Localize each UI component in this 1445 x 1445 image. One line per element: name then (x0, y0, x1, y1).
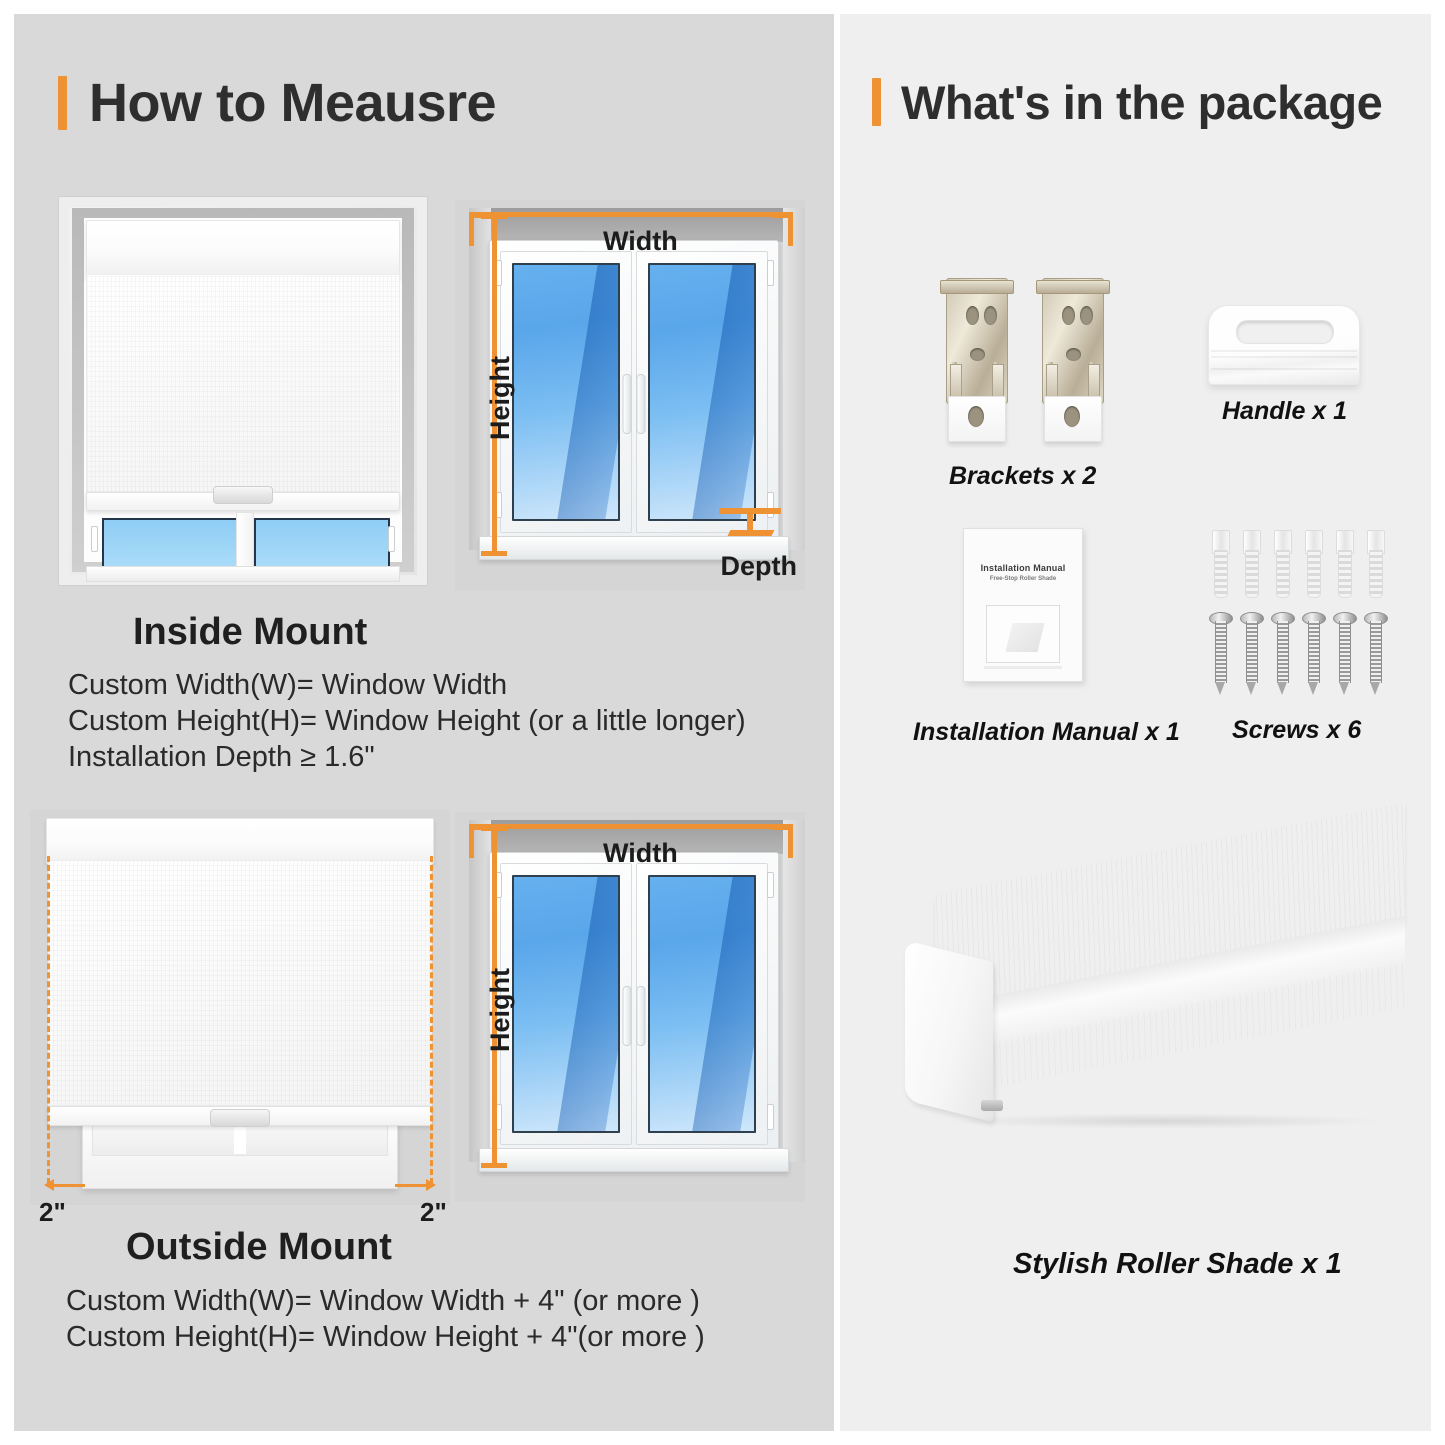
accent-bar-icon (58, 76, 67, 130)
handle-item (1208, 305, 1360, 385)
screw-5 (1333, 612, 1355, 696)
screw-4 (1302, 612, 1324, 696)
window-sash-left (500, 251, 632, 533)
outside-mount-line-1: Custom Width(W)= Window Width + 4" (or m… (66, 1285, 700, 1318)
installation-manual-item: Installation Manual Free-Stop Roller Sha… (963, 528, 1083, 682)
depth-marker-icon (719, 508, 783, 538)
overhang-arrowhead-left (44, 1179, 54, 1191)
manual-cover-title: Installation Manual (964, 563, 1082, 573)
window-hinge-right-icon (388, 526, 395, 552)
width-label: Width (603, 226, 678, 257)
width-label: Width (603, 838, 678, 869)
handle-label: Handle x 1 (1222, 397, 1347, 426)
inside-mount-line-3: Installation Depth ≥ 1.6" (68, 741, 375, 774)
visible-glass-right (254, 518, 390, 570)
height-marker-top-cap (481, 214, 507, 219)
height-marker-bottom-cap (481, 1163, 507, 1168)
window-hinge-top-right-icon (767, 872, 774, 898)
wall-anchor-5 (1333, 530, 1355, 596)
height-marker-bottom-cap (481, 551, 507, 556)
outside-mount-line-2: Custom Height(H)= Window Height + 4"(or … (66, 1321, 705, 1354)
heading-text: How to Meausre (89, 76, 496, 130)
handle-grip-slot (1236, 320, 1334, 344)
shade-bottom-rail (86, 492, 400, 511)
overhang-arrowhead-right (426, 1179, 436, 1191)
window-sill (479, 1148, 789, 1172)
inside-mount-line-2: Custom Height(H)= Window Height (or a li… (68, 705, 746, 738)
outside-mount-title: Outside Mount (126, 1226, 392, 1269)
window-reveal-right (783, 208, 805, 550)
width-marker-line (475, 212, 793, 217)
roller-shade-label: Stylish Roller Shade x 1 (1013, 1248, 1342, 1281)
width-marker-right-tick (788, 824, 793, 858)
width-marker-left-tick (469, 824, 474, 858)
shade-end-cap (905, 940, 993, 1122)
manual-cover-subtitle: Free-Stop Roller Shade (964, 576, 1082, 582)
outside-mount-window-diagram: Width Height (455, 812, 805, 1202)
shade-fabric (86, 274, 400, 498)
wall-anchor-4 (1302, 530, 1324, 596)
screw-1 (1209, 612, 1231, 696)
shade-valance (46, 818, 434, 864)
shade-bottom-rail (48, 1106, 432, 1126)
window-sill (86, 566, 400, 582)
window-hinge-left-icon (91, 526, 98, 552)
shade-valance (86, 220, 400, 278)
window-glass-left (512, 875, 620, 1133)
heading-text: What's in the package (901, 79, 1382, 126)
outside-mount-shade-illustration (30, 810, 450, 1205)
manual-cover-image (986, 605, 1060, 663)
screws-label: Screws x 6 (1232, 716, 1361, 745)
wall-anchor-6 (1364, 530, 1386, 596)
accent-bar-icon (872, 78, 881, 126)
window-handles-icon (623, 374, 646, 434)
window-reveal-right (783, 820, 805, 1162)
shade-end-pin (981, 1100, 1003, 1111)
window-sash-right (636, 251, 768, 533)
window-sash-left (500, 863, 632, 1145)
screw-3 (1271, 612, 1293, 696)
window-glass-right (648, 875, 756, 1133)
overhang-label-left: 2" (39, 1197, 66, 1228)
shade-pull-handle (213, 486, 273, 504)
how-to-measure-heading: How to Meausre (58, 76, 496, 130)
bracket-item-1 (938, 278, 1014, 443)
width-marker-right-tick (788, 212, 793, 246)
bracket-item-2 (1034, 278, 1110, 443)
inside-mount-title: Inside Mount (133, 611, 367, 654)
roller-shade-product-image (905, 895, 1405, 1195)
window-hinge-bottom-right-icon (767, 1104, 774, 1130)
window-glass-left (512, 263, 620, 521)
height-marker-top-cap (481, 826, 507, 831)
wall-anchor-3 (1271, 530, 1293, 596)
height-label: Height (485, 968, 516, 1052)
shade-fabric (48, 860, 432, 1112)
window-frame (489, 852, 779, 1156)
height-label: Height (485, 356, 516, 440)
window-glass-right (648, 263, 756, 521)
infographic-page: How to Meausre What's in the package (0, 0, 1445, 1445)
inside-mount-shade-illustration (58, 196, 428, 586)
manual-cover-footer (984, 666, 1062, 669)
brackets-label: Brackets x 2 (949, 462, 1096, 491)
depth-label: Depth (721, 551, 798, 582)
inside-mount-line-1: Custom Width(W)= Window Width (68, 669, 507, 702)
screw-6 (1364, 612, 1386, 696)
product-shadow (945, 1113, 1385, 1129)
wall-anchor-1 (1209, 530, 1231, 596)
window-sash-right (636, 863, 768, 1145)
installation-manual-label: Installation Manual x 1 (913, 718, 1180, 747)
shade-pull-handle (210, 1109, 270, 1127)
window-hinge-top-right-icon (767, 260, 774, 286)
overhang-guide-left (47, 856, 50, 1184)
screw-2 (1240, 612, 1262, 696)
overhang-label-right: 2" (420, 1197, 447, 1228)
wall-anchor-2 (1240, 530, 1262, 596)
inside-mount-window-diagram: Width Height Depth (455, 200, 805, 590)
whats-in-package-heading: What's in the package (872, 78, 1382, 126)
window-handles-icon (623, 986, 646, 1046)
overhang-guide-right (430, 856, 433, 1184)
window-frame (489, 240, 779, 544)
visible-glass-left (102, 518, 238, 570)
width-marker-left-tick (469, 212, 474, 246)
width-marker-line (475, 824, 793, 829)
